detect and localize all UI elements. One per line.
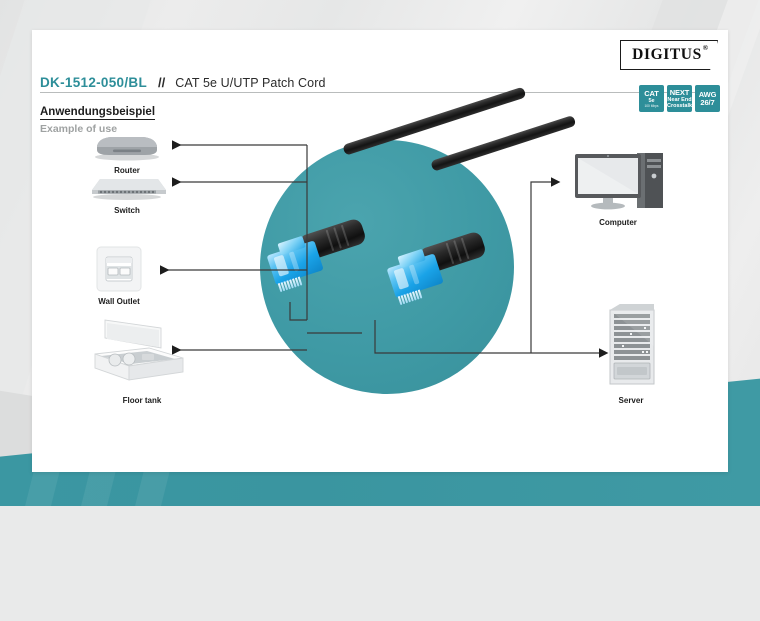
device-server-label: Server <box>571 396 691 405</box>
application-diagram: Router Switch <box>32 30 728 472</box>
device-switch-label: Switch <box>67 206 187 215</box>
device-wall-outlet-label: Wall Outlet <box>59 297 179 306</box>
device-computer: Computer <box>567 150 677 214</box>
device-router: Router <box>87 130 167 162</box>
device-floor-tank-label: Floor tank <box>82 396 202 405</box>
device-server: Server <box>600 300 662 392</box>
device-switch: Switch <box>84 170 170 202</box>
cable-lead-lower <box>430 115 576 172</box>
device-floor-tank: Floor tank <box>87 318 187 390</box>
datasheet-page: DK-1512-050/BL // CAT 5e U/UTP Patch Cor… <box>32 30 728 472</box>
device-computer-label: Computer <box>558 218 678 227</box>
arrow-to-computer <box>531 182 552 353</box>
device-wall-outlet: Wall Outlet <box>95 245 143 293</box>
